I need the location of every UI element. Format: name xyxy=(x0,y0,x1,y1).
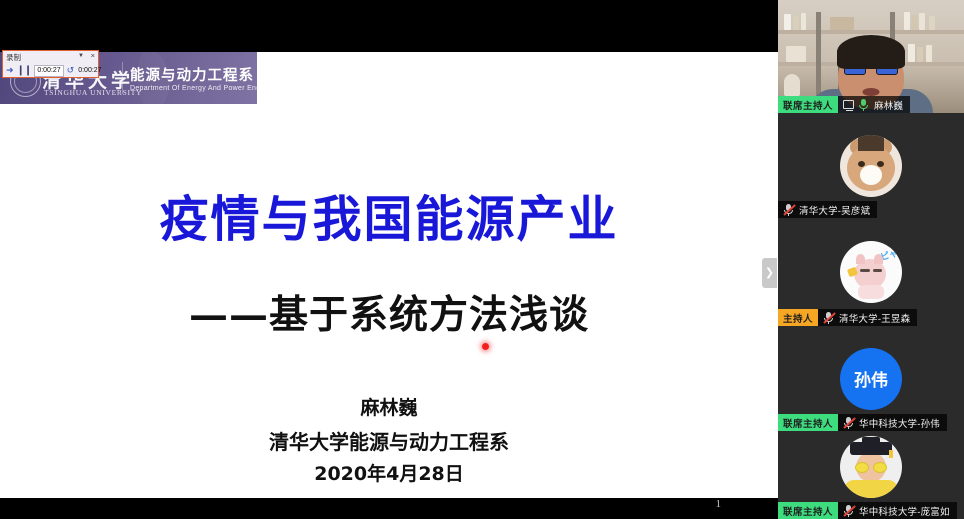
screen-share-icon xyxy=(843,100,854,109)
participant-name: 清华大学-吴彦斌 xyxy=(799,203,870,217)
participant-tile[interactable]: ピャ 主持人 清华大学-王昱森 xyxy=(778,218,964,326)
participant-name: 华中科技大学-庞富如 xyxy=(859,504,950,518)
banner-department-cn: 能源与动力工程系 xyxy=(130,64,254,85)
role-badge: 联席主持人 xyxy=(778,414,838,431)
participant-tile[interactable]: 清华大学-吴彦斌 xyxy=(778,113,964,218)
slide-byline: 麻林巍 清华大学能源与动力工程系 2020年4月28日 xyxy=(0,393,778,486)
shared-screen-area: 清华大学 TSINGHUA UNIVERSITY 能源与动力工程系 Depart… xyxy=(0,0,778,519)
person-hair xyxy=(837,35,905,69)
avatar: ピャ xyxy=(840,241,902,303)
participant-tile[interactable]: 孙伟 联席主持人 华中科技大学-孙伟 xyxy=(778,326,964,431)
avatar xyxy=(840,135,902,197)
recording-controls-row: ➜ ❙❙ 0:00:27 ↺ 0:00:27 xyxy=(3,63,98,78)
byline-presenter: 麻林巍 xyxy=(0,393,778,420)
participant-label: 主持人 清华大学-王昱森 xyxy=(778,309,917,326)
participant-tile[interactable]: 联席主持人 华中科技大学-庞富如 xyxy=(778,431,964,519)
slide-title: 疫情与我国能源产业 xyxy=(0,180,778,251)
recording-toolbar-title: 录制 xyxy=(6,52,21,63)
recording-total-time: 0:00:27 xyxy=(77,67,102,74)
mic-muted-icon xyxy=(843,505,854,517)
panel-collapse-handle[interactable]: ❯ xyxy=(762,258,777,288)
mic-muted-icon xyxy=(783,204,794,216)
participant-name: 清华大学-王昱森 xyxy=(839,311,910,325)
chevron-right-icon: ❯ xyxy=(765,268,774,279)
participant-label: 联席主持人 华中科技大学-庞富如 xyxy=(778,502,957,519)
mic-muted-icon xyxy=(843,417,854,429)
participant-label: 联席主持人 麻林巍 xyxy=(778,96,910,113)
mic-icon xyxy=(858,99,869,111)
undo-icon[interactable]: ↺ xyxy=(67,65,75,76)
role-badge: 联席主持人 xyxy=(778,502,838,519)
avatar xyxy=(840,436,902,498)
pause-icon[interactable]: ❙❙ xyxy=(17,65,32,76)
role-badge: 主持人 xyxy=(778,309,818,326)
role-badge: 联席主持人 xyxy=(778,96,838,113)
resume-arrow-icon[interactable]: ➜ xyxy=(6,66,14,75)
close-icon[interactable]: × xyxy=(91,52,95,60)
slide-subtitle: ——基于系统方法浅谈 xyxy=(0,284,778,340)
avatar: 孙伟 xyxy=(840,348,902,410)
banner-divider xyxy=(122,62,123,94)
participant-label: 清华大学-吴彦斌 xyxy=(778,201,877,218)
banner-university-en: TSINGHUA UNIVERSITY xyxy=(44,88,142,97)
meeting-window: 清华大学 TSINGHUA UNIVERSITY 能源与动力工程系 Depart… xyxy=(0,0,964,519)
participant-label: 联席主持人 华中科技大学-孙伟 xyxy=(778,414,947,431)
recording-elapsed-time: 0:00:27 xyxy=(34,65,63,77)
participant-name: 华中科技大学-孙伟 xyxy=(859,416,940,430)
laser-pointer-dot xyxy=(482,343,489,350)
recording-toolbar[interactable]: 录制 ▼ × ➜ ❙❙ 0:00:27 ↺ 0:00:27 xyxy=(2,50,99,78)
slide-page-number: 1 xyxy=(716,498,722,510)
participant-tile[interactable]: 联席主持人 麻林巍 xyxy=(778,0,964,113)
mic-muted-icon xyxy=(823,312,834,324)
participant-name: 麻林巍 xyxy=(874,98,903,112)
byline-date: 2020年4月28日 xyxy=(0,459,778,486)
presentation-slide[interactable]: 清华大学 TSINGHUA UNIVERSITY 能源与动力工程系 Depart… xyxy=(0,52,778,498)
participant-video-strip[interactable]: 联席主持人 麻林巍 xyxy=(778,0,964,519)
chevron-down-icon[interactable]: ▼ xyxy=(78,53,84,59)
byline-affiliation: 清华大学能源与动力工程系 xyxy=(0,426,778,455)
banner-department-en: Department Of Energy And Power Engineeri… xyxy=(130,85,257,92)
